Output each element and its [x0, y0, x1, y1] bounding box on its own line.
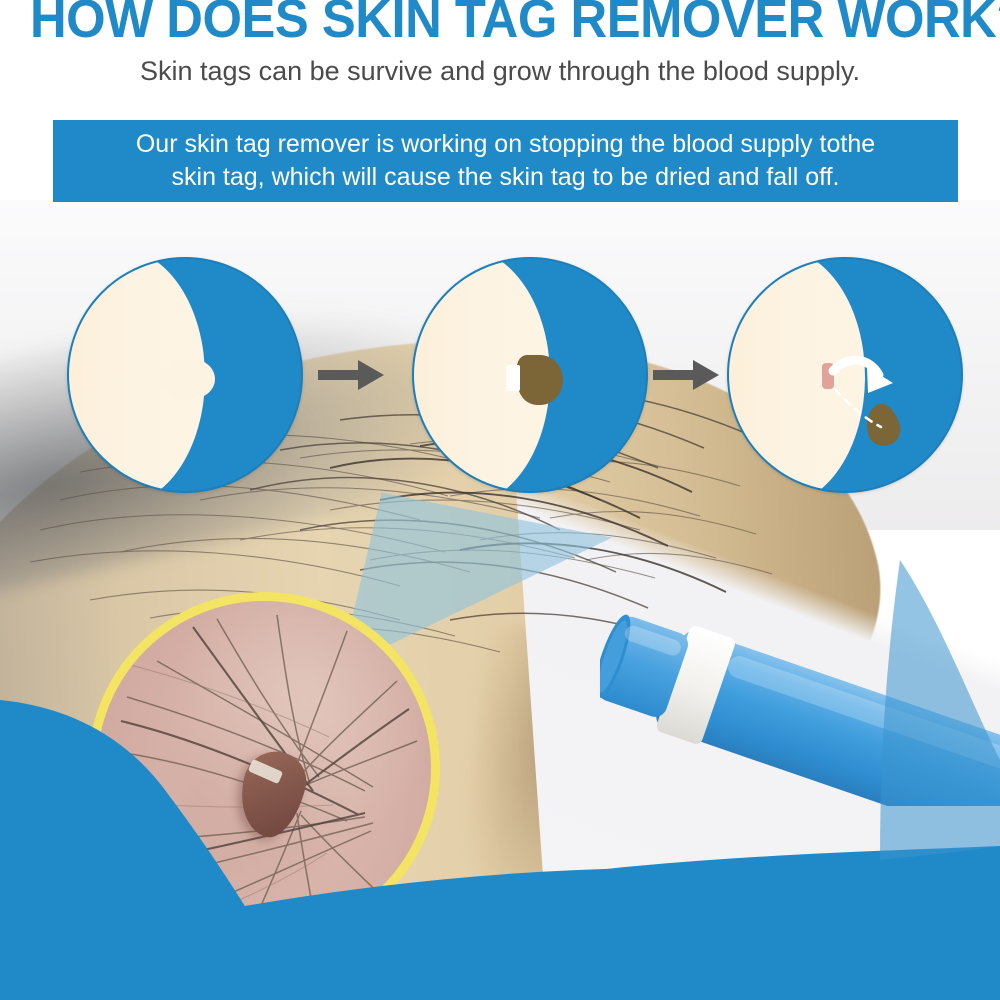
info-banner: Our skin tag remover is working on stopp… — [53, 120, 958, 202]
skin-tag-closeup-magnifier — [88, 592, 440, 944]
skin-tag-fallen — [860, 400, 904, 450]
healed-skin-spot — [822, 363, 834, 389]
skin-tag-constriction — [506, 365, 520, 391]
skin-tag-dried — [517, 355, 563, 405]
step-arrow-1-icon — [318, 357, 384, 393]
page-title: HOW DOES SKIN TAG REMOVER WORK? — [30, 0, 970, 50]
step-2-diagram — [412, 257, 648, 493]
page-subtitle: Skin tags can be survive and grow throug… — [0, 56, 1000, 87]
step-1-diagram — [67, 257, 303, 493]
step-arrow-2-icon — [653, 357, 719, 393]
skin-tag-healthy — [169, 359, 215, 399]
banner-line-1: Our skin tag remover is working on stopp… — [136, 128, 875, 161]
step-3-diagram — [727, 257, 963, 493]
infographic-page: HOW DOES SKIN TAG REMOVER WORK? Skin tag… — [0, 0, 1000, 1000]
banner-line-2: skin tag, which will cause the skin tag … — [172, 161, 840, 194]
skin-layer — [727, 257, 865, 493]
